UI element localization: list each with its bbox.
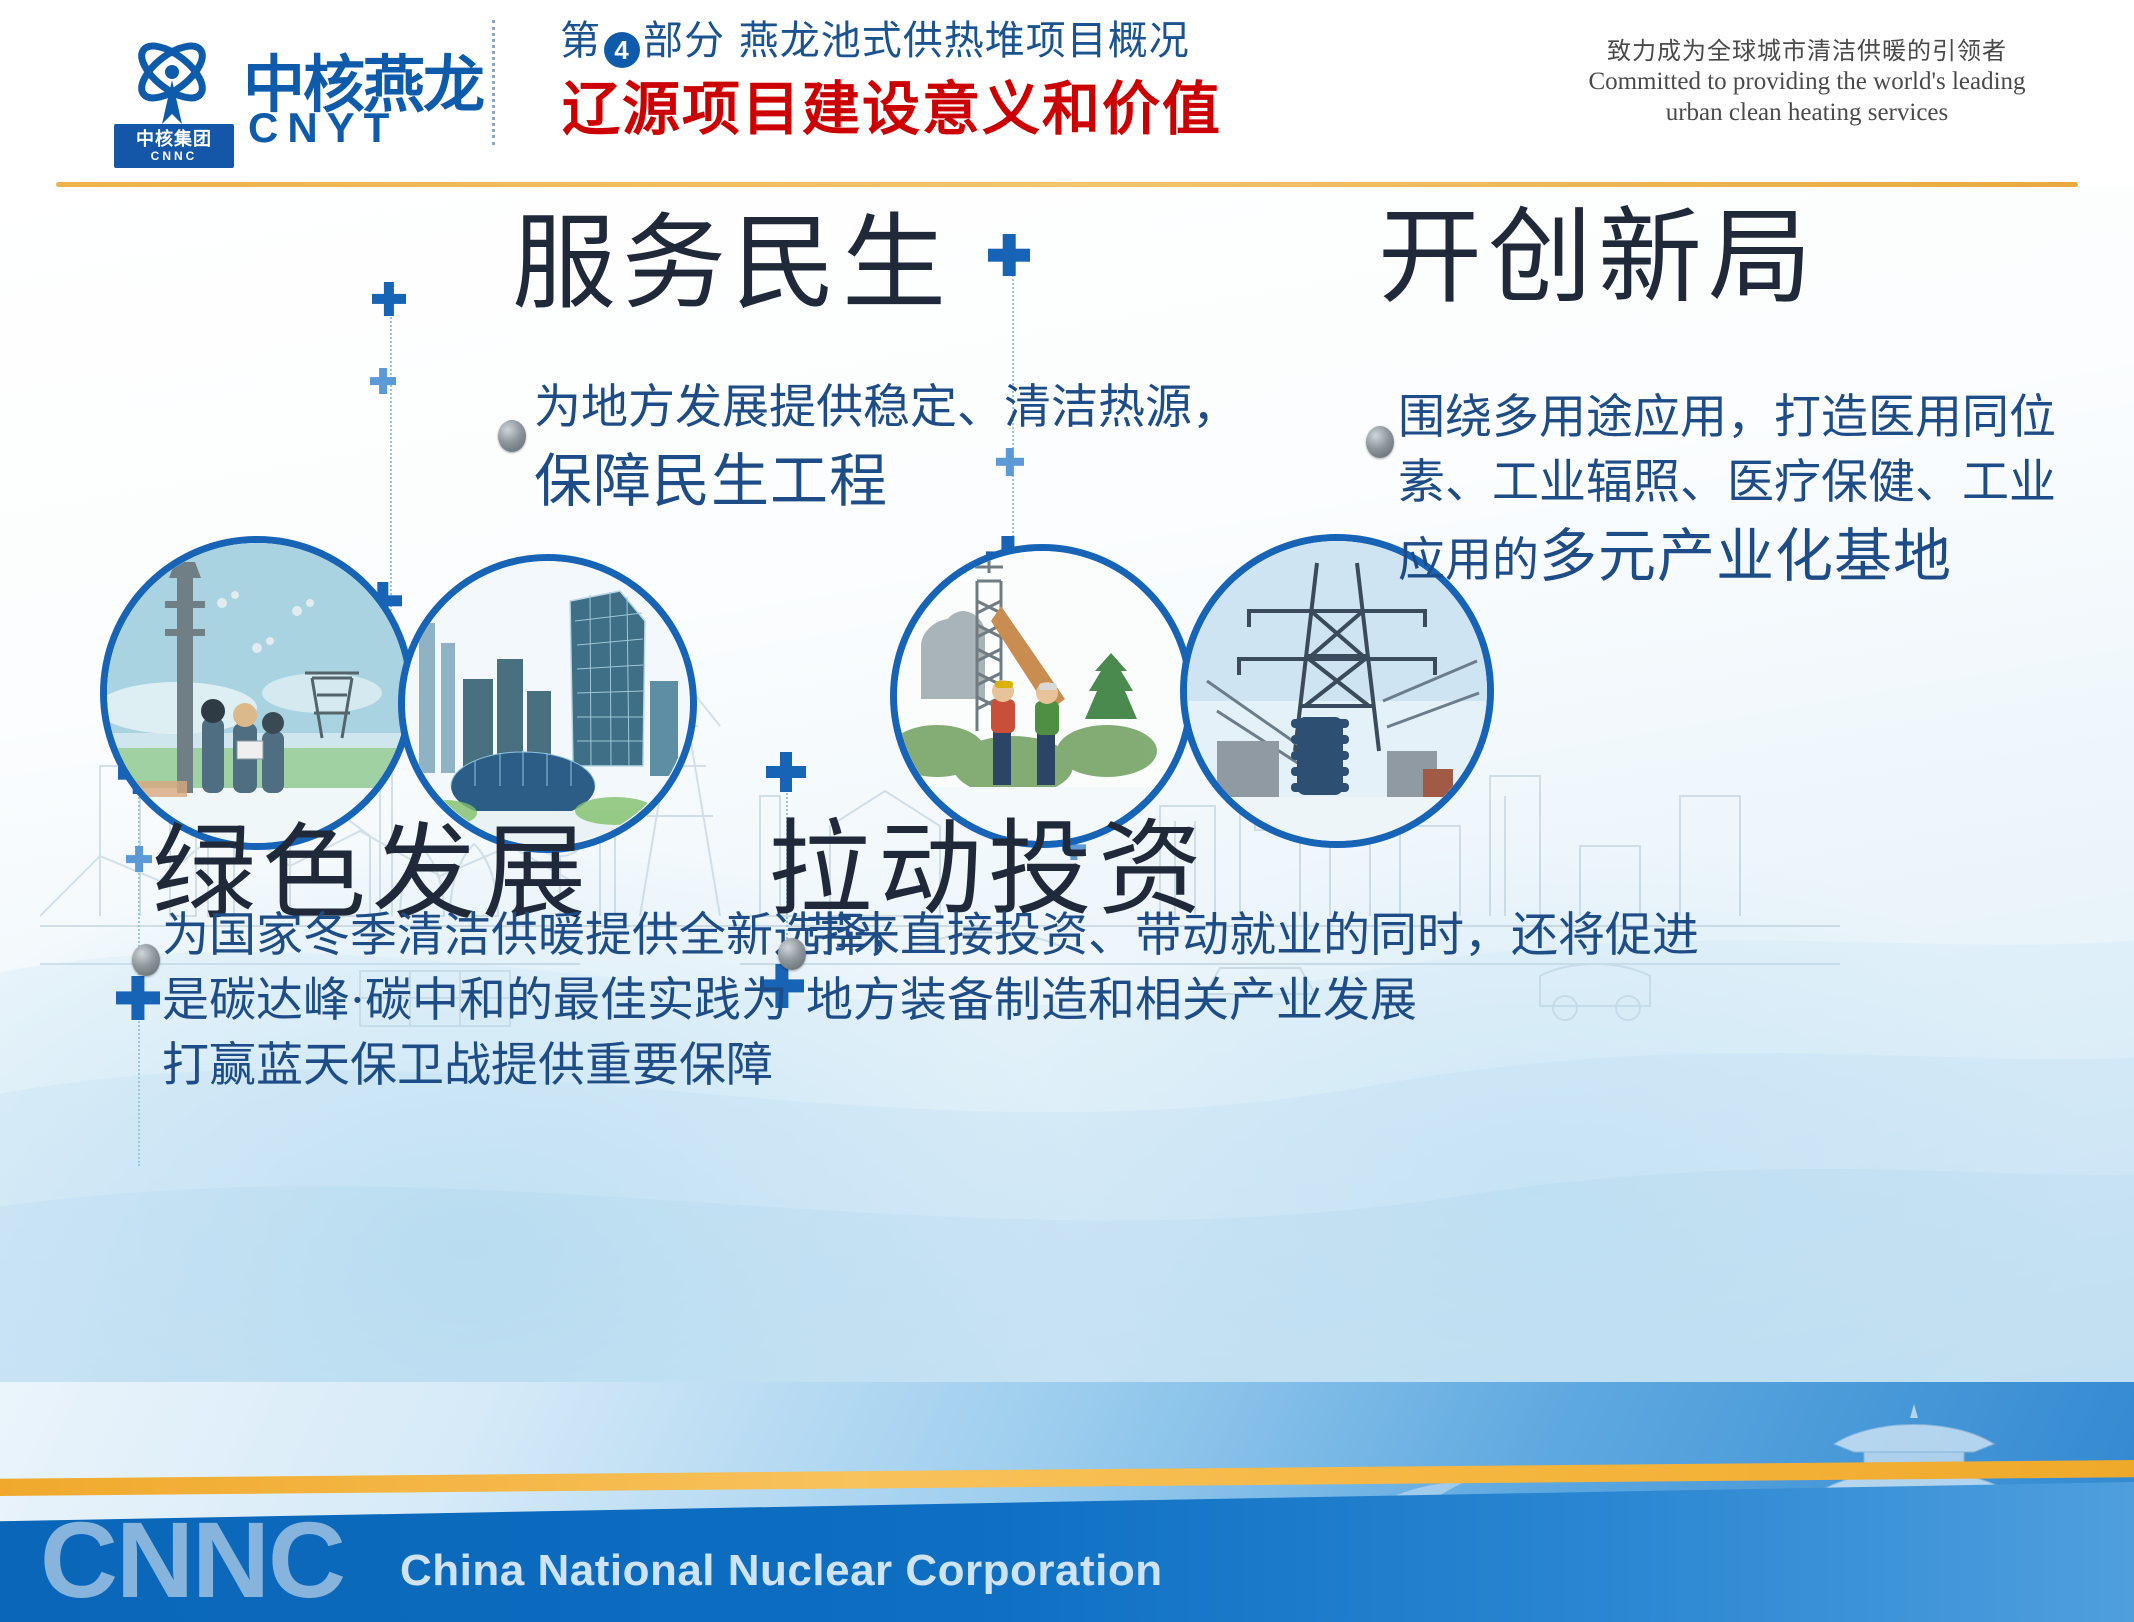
service-people-line-1: 为地方发展提供稳定、清洁热源，: [534, 376, 1254, 441]
bullet-dot-bottom-right: [778, 938, 806, 970]
header-gold-rule: [56, 182, 2078, 187]
new-frontier-line-2: 素、工业辐照、医疗保健、工业: [1398, 451, 2098, 516]
boost-investment-line-2: 地方装备制造和相关产业发展: [806, 969, 1866, 1034]
slide-footer: CNNC China National Nuclear Corporation: [0, 1382, 2134, 1622]
cnnc-group-en: CNNC: [151, 150, 198, 162]
plus-mark-icon-11: [116, 976, 160, 1020]
cnyt-logo[interactable]: 中核集团 CNNC 中核燕龙 CNYT: [108, 20, 463, 160]
atom-logo-icon: [118, 28, 226, 128]
cnnc-group-badge: 中核集团 CNNC: [114, 124, 234, 168]
page-title: 辽源项目建设意义和价值: [562, 62, 1222, 146]
section-prefix: 第: [560, 18, 601, 64]
plus-mark-icon-3: [988, 234, 1030, 276]
tagline-en-line-2: urban clean heating services: [1572, 97, 2042, 128]
block-text-boost-investment: 带来直接投资、带动就业的同时，还将促进 地方装备制造和相关产业发展: [806, 904, 1866, 1034]
tagline-cn: 致力成为全球城市清洁供暖的引领者: [1572, 36, 2042, 66]
slide-root: 服务民生 为地方发展提供稳定、清洁热源， 保障民生工程 开创新局 围绕多用途应用…: [0, 0, 2134, 1622]
slide-header: 中核集团 CNNC 中核燕龙 CNYT 第4部分 燕龙池式供热堆项目概况 辽源项…: [0, 0, 2134, 186]
plus-mark-icon-2: [370, 368, 396, 394]
block-title-service-people: 服务民生: [512, 186, 952, 329]
bullet-dot-bottom-left: [132, 944, 160, 976]
green-development-line-3: 打赢蓝天保卫战提供重要保障: [162, 1034, 982, 1099]
new-frontier-line-3: 应用的多元产业化基地: [1398, 516, 2098, 596]
section-suffix: 部分 燕龙池式供热堆项目概况: [643, 18, 1190, 64]
boost-investment-line-1: 带来直接投资、带动就业的同时，还将促进: [806, 904, 1866, 969]
footer-brand-full-name: China National Nuclear Corporation: [400, 1546, 1163, 1596]
header-divider: [492, 20, 495, 145]
cnnc-group-cn: 中核集团: [136, 130, 212, 148]
new-frontier-line-3-prefix: 应用的: [1398, 533, 1539, 588]
new-frontier-line-3-highlight: 多元产业化基地: [1539, 522, 1952, 590]
bullet-dot-top-right: [1366, 426, 1394, 458]
company-tagline: 致力成为全球城市清洁供暖的引领者 Committed to providing …: [1572, 36, 2042, 129]
brand-name-en: CNYT: [248, 104, 398, 152]
service-people-line-2: 保障民生工程: [534, 441, 1254, 521]
plus-mark-icon-9: [126, 846, 152, 872]
section-breadcrumb: 第4部分 燕龙池式供热堆项目概况: [560, 8, 1190, 68]
block-text-new-frontier: 围绕多用途应用，打造医用同位 素、工业辐照、医疗保健、工业 应用的多元产业化基地: [1398, 386, 2098, 596]
footer-brand-logo: CNNC: [40, 1506, 344, 1614]
plus-mark-icon-1: [372, 282, 406, 316]
tagline-en-line-1: Committed to providing the world's leadi…: [1572, 66, 2042, 97]
block-text-service-people: 为地方发展提供稳定、清洁热源， 保障民生工程: [534, 376, 1254, 521]
bullet-dot-top-left: [498, 420, 526, 452]
block-title-new-frontier: 开创新局: [1378, 186, 1818, 323]
new-frontier-line-1: 围绕多用途应用，打造医用同位: [1398, 386, 2098, 451]
